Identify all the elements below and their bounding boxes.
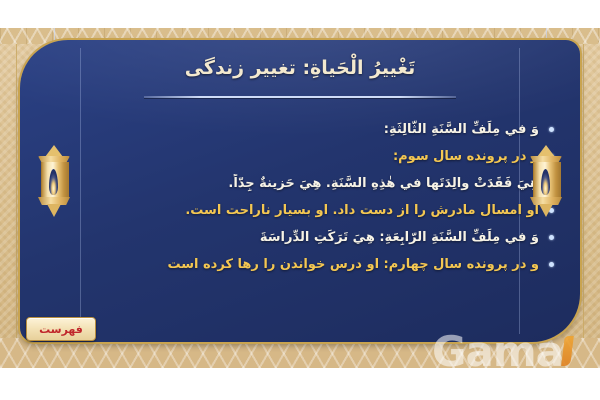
ornamental-bottom-border [0,338,600,368]
lantern-tip [47,204,61,217]
slide-title-container: تَغْييرُ الْحَياةِ: تغییر زندگی [20,56,580,82]
slide-title: تَغْييرُ الْحَياةِ: تغییر زندگی [185,56,416,82]
index-button-label: فهرست [39,324,83,335]
bullet-text: و در پرونده سال چهارم: او درس خواندن را … [98,255,539,275]
lantern-icon [529,145,563,219]
lantern-tip [539,204,553,217]
content-panel: تَغْييرُ الْحَياةِ: تغییر زندگی وَ في مِ… [20,40,580,342]
backdrop-left-rule [16,44,17,338]
bullet-list: وَ في مِلَفِّ السَّنَةِ الثّالِثَةِ: و د… [98,116,554,278]
title-underline [144,96,456,98]
bullet-dot-icon [549,235,554,240]
bullet-text: وَ في مِلَفِّ السَّنَةِ الثّالِثَةِ: [98,120,539,140]
list-item: و در پرونده سال چهارم: او درس خواندن را … [98,251,554,278]
bullet-text: و در پرونده سال سوم: [98,147,539,167]
bullet-text: او امسال مادرش را از دست داد. او بسیار ن… [98,201,539,221]
list-item: و در پرونده سال سوم: [98,143,554,170]
backdrop-right-rule [583,44,584,338]
bullet-dot-icon [549,262,554,267]
slide-canvas: تَغْييرُ الْحَياةِ: تغییر زندگی وَ في مِ… [0,0,600,400]
list-item: او امسال مادرش را از دست داد. او بسیار ن… [98,197,554,224]
bullet-text: وَ في مِلَفِّ السَّنَةِ الرّابِعَةِ: هِي… [98,228,539,248]
bullet-dot-icon [549,127,554,132]
list-item: هِيَ فَقَدَتْ والِدَتَها في هٰذِهِ السَّ… [98,170,554,197]
lantern-icon [37,145,71,219]
lantern-cap [537,145,555,157]
lantern-cap [45,145,63,157]
bullet-text: هِيَ فَقَدَتْ والِدَتَها في هٰذِهِ السَّ… [98,174,539,194]
list-item: وَ في مِلَفِّ السَّنَةِ الرّابِعَةِ: هِي… [98,224,554,251]
index-button[interactable]: فهرست [26,317,96,341]
panel-hairline-left [80,48,81,334]
list-item: وَ في مِلَفِّ السَّنَةِ الثّالِثَةِ: [98,116,554,143]
